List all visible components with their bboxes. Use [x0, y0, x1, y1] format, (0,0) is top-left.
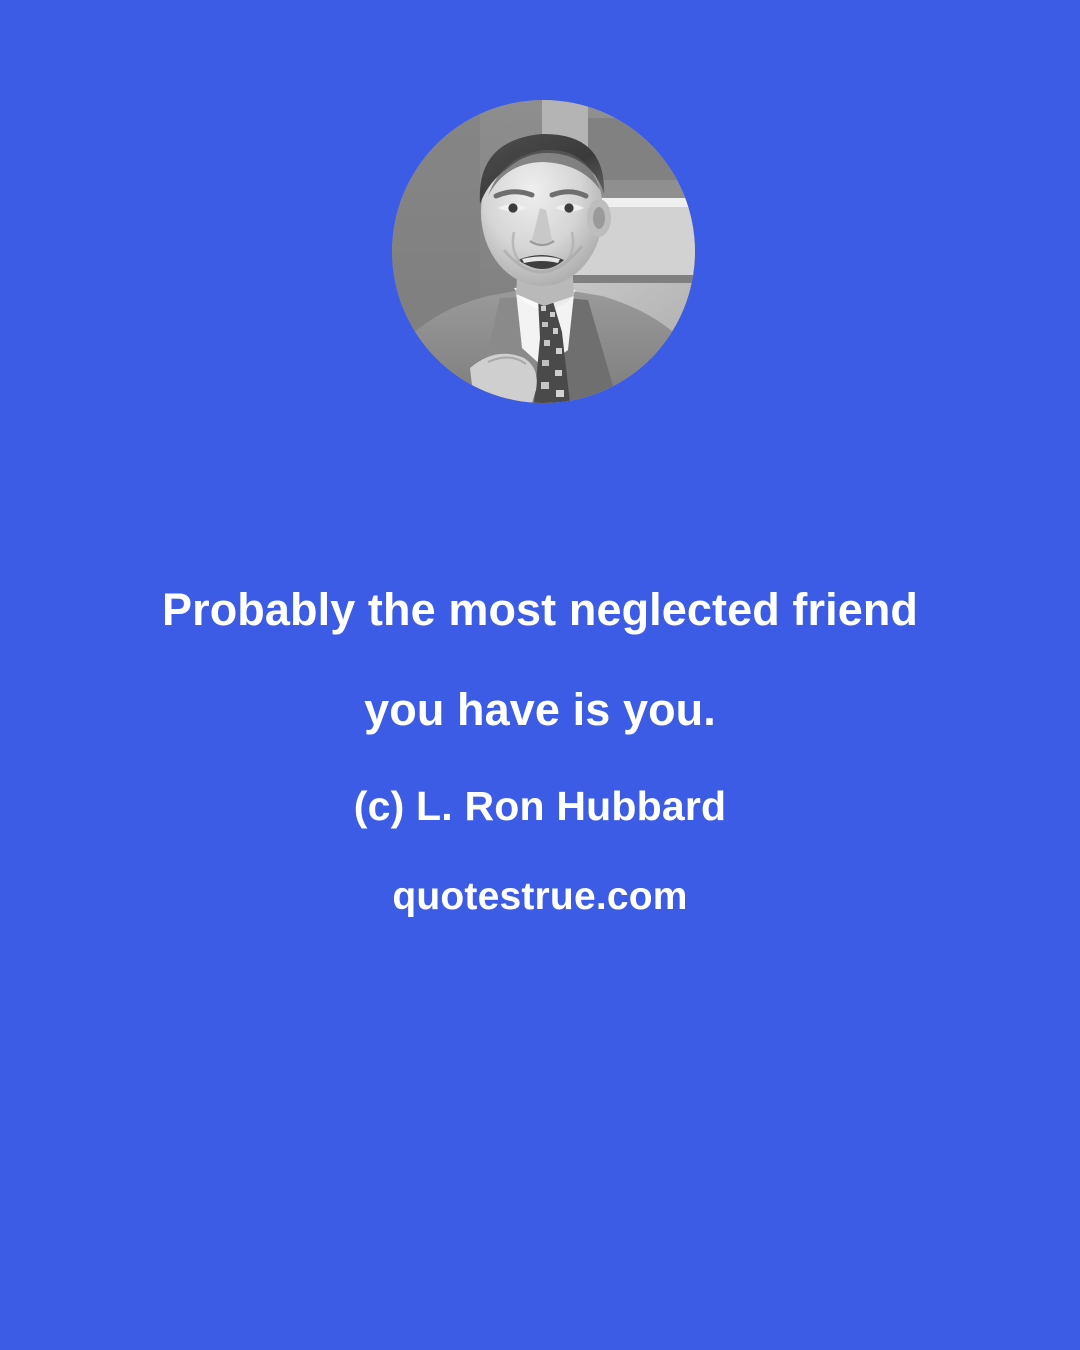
portrait-photo-icon: [392, 100, 695, 403]
quote-line-2: you have is you.: [0, 660, 1080, 760]
quote-card: Probably the most neglected friend you h…: [0, 0, 1080, 1350]
quote-text-block: Probably the most neglected friend you h…: [0, 560, 1080, 922]
quote-line-1: Probably the most neglected friend: [0, 560, 1080, 660]
source-website: quotestrue.com: [0, 872, 1080, 922]
quote-attribution: (c) L. Ron Hubbard: [0, 780, 1080, 832]
author-avatar: [392, 100, 695, 403]
